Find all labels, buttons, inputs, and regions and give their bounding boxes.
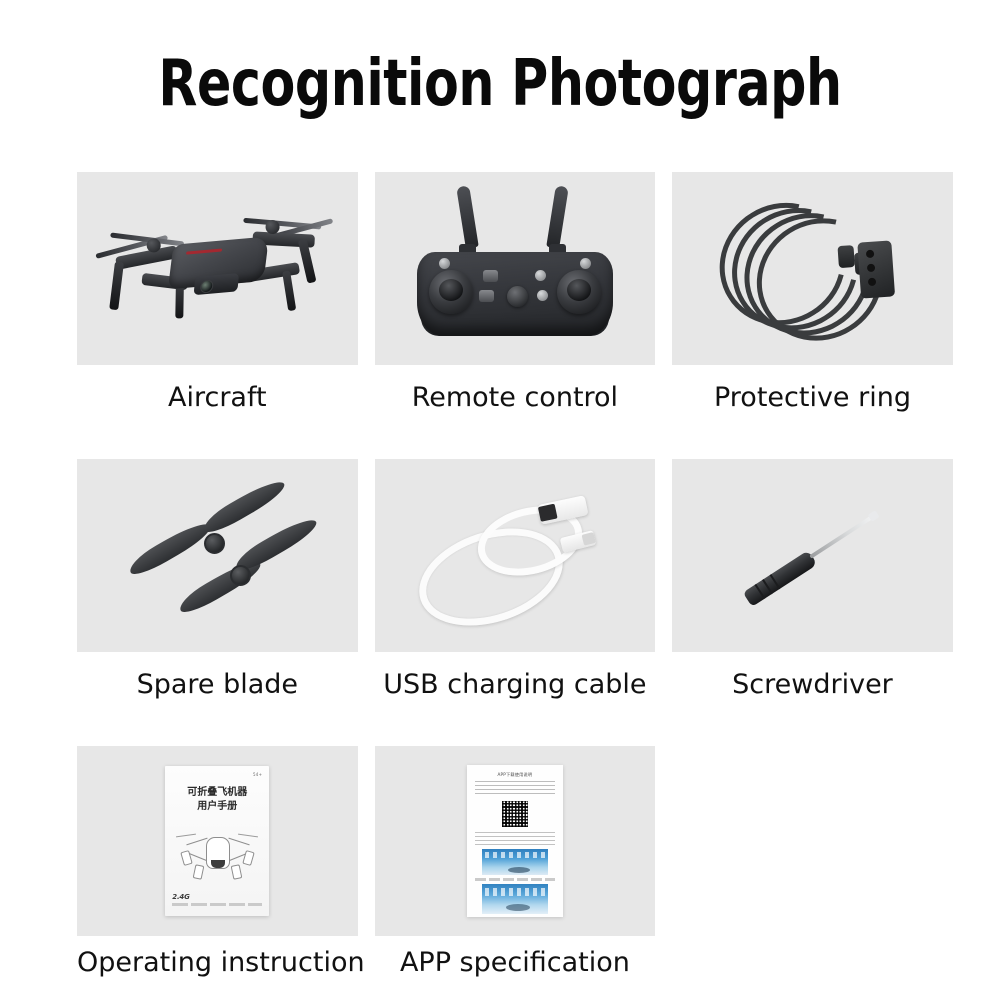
usb-cable-icon — [375, 459, 656, 652]
antenna-left — [456, 186, 479, 249]
landing-leg — [109, 261, 124, 310]
takeoff-button — [483, 270, 498, 282]
manual-cover: 54+ 可折叠飞机器 用户手册 — [165, 766, 269, 916]
item-cell-empty — [672, 746, 953, 978]
line-art-arm — [187, 838, 208, 846]
manual-fineprint — [172, 903, 262, 906]
qr-code-icon — [501, 800, 529, 828]
item-label: Remote control — [375, 383, 656, 413]
manual-booklet-icon: 54+ 可折叠飞机器 用户手册 — [77, 746, 358, 936]
spec-sheet-page: APP下载使用说明 — [467, 765, 563, 917]
shoulder-button-right — [580, 258, 591, 269]
guard-clip — [838, 245, 855, 268]
drone-icon — [77, 172, 358, 365]
shoulder-button-left — [439, 258, 450, 269]
item-label: Operating instruction — [77, 948, 358, 978]
aircraft-photo-panel[interactable] — [77, 172, 358, 365]
screwdriver-shaft — [810, 515, 874, 559]
spec-sheet-icon: APP下载使用说明 — [375, 746, 656, 936]
propeller-blade-icon — [77, 459, 358, 652]
item-cell-app-specification[interactable]: APP下载使用说明 APP specification — [375, 746, 656, 978]
recognition-photograph-page: Recognition Photograph — [0, 0, 1000, 1000]
line-art-leg — [181, 850, 194, 866]
line-art-leg — [193, 864, 205, 880]
power-button — [507, 286, 528, 307]
spec-text-block-top — [475, 781, 555, 796]
item-label: Aircraft — [77, 383, 358, 413]
blade-shape — [200, 475, 289, 537]
manual-corner-mark: 54+ — [253, 772, 262, 777]
item-cell-usb-cable[interactable]: USB charging cable — [375, 459, 656, 700]
item-label: Protective ring — [672, 383, 953, 413]
spec-text-block-middle — [475, 832, 555, 845]
line-art-leg — [231, 864, 243, 880]
landing-leg — [282, 270, 296, 311]
item-label: USB charging cable — [375, 670, 656, 700]
blade-hub — [204, 533, 225, 554]
app-screenshot-2 — [482, 884, 548, 914]
function-button-1 — [535, 270, 546, 281]
usb-cable-photo-panel[interactable] — [375, 459, 656, 652]
guard-mount-block — [858, 240, 896, 298]
line-art-propeller — [238, 834, 258, 838]
operating-instruction-photo-panel[interactable]: 54+ 可折叠飞机器 用户手册 — [77, 746, 358, 936]
empty-panel — [672, 746, 953, 936]
spare-blade-photo-panel[interactable] — [77, 459, 358, 652]
screwdriver-icon — [672, 459, 953, 652]
line-art-leg — [243, 850, 256, 866]
drone-camera — [194, 273, 239, 295]
line-art-propeller — [176, 834, 196, 838]
propeller-guard-icon — [672, 172, 953, 365]
blade-shape — [126, 517, 215, 579]
app-screenshot-1 — [482, 849, 548, 875]
manual-title-line-1: 可折叠飞机器 — [172, 786, 262, 799]
line-art-arm — [229, 838, 250, 846]
line-art-body — [206, 837, 230, 869]
item-cell-screwdriver[interactable]: Screwdriver — [672, 459, 953, 700]
manual-brand-label: 2.4G — [172, 893, 262, 901]
screwdriver-photo-panel[interactable] — [672, 459, 953, 652]
item-cell-aircraft[interactable]: Aircraft — [77, 172, 358, 413]
manual-drone-line-art — [176, 823, 258, 881]
grid-row: 54+ 可折叠飞机器 用户手册 — [77, 746, 953, 978]
protective-ring-photo-panel[interactable] — [672, 172, 953, 365]
joystick-left — [429, 270, 473, 314]
item-cell-spare-blade[interactable]: Spare blade — [77, 459, 358, 700]
app-specification-photo-panel[interactable]: APP下载使用说明 — [375, 746, 656, 936]
spec-sheet-header: APP下载使用说明 — [475, 772, 555, 778]
spec-text-block-caption — [475, 878, 555, 881]
screwdriver-tip — [868, 510, 880, 522]
function-button-2 — [537, 290, 548, 301]
grid-row: Aircraft — [77, 172, 953, 413]
joystick-right — [557, 270, 601, 314]
manual-footer: 2.4G — [172, 893, 262, 906]
item-label: Spare blade — [77, 670, 358, 700]
accessory-grid: Aircraft — [77, 172, 953, 978]
manual-title-line-2: 用户手册 — [172, 800, 262, 813]
screwdriver-handle — [743, 550, 818, 607]
land-button — [479, 290, 494, 302]
item-cell-operating-instruction[interactable]: 54+ 可折叠飞机器 用户手册 — [77, 746, 358, 978]
antenna-right — [546, 186, 569, 249]
remote-control-icon — [375, 172, 656, 365]
item-label: APP specification — [375, 948, 656, 978]
item-cell-protective-ring[interactable]: Protective ring — [672, 172, 953, 413]
grid-row: Spare blade USB charging cable — [77, 459, 953, 700]
item-cell-remote-control[interactable]: Remote control — [375, 172, 656, 413]
item-label: Screwdriver — [672, 670, 953, 700]
page-title: Recognition Photograph — [60, 48, 940, 120]
blade-hub — [230, 565, 251, 586]
remote-control-photo-panel[interactable] — [375, 172, 656, 365]
